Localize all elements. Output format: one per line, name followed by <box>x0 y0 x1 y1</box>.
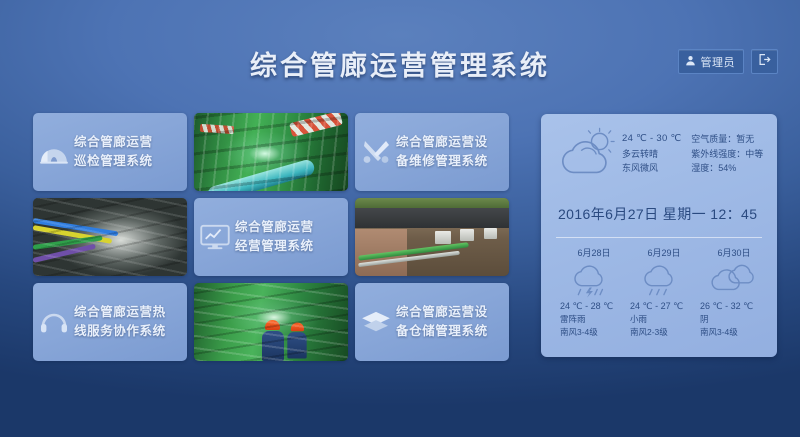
grey-corridor-pipes-photo <box>33 198 187 276</box>
tile-inspection-system[interactable]: 综合管廊运营 巡检管理系统 <box>33 113 187 191</box>
current-weather-details: 24 ℃ - 30 ℃ 多云转晴 东风微风 空气质量：暂无 紫外线强度：中等 湿… <box>622 124 764 176</box>
forecast-day-3: 6月30日 26 ℃ - 32 ℃ 阴 南风3-4级 <box>694 246 764 339</box>
tile-photo-3d-cutaway[interactable] <box>355 198 509 276</box>
tile-label-line2: 经营管理系统 <box>235 237 341 256</box>
page-header: 综合管廊运营管理系统 管理员 <box>0 0 800 96</box>
current-weather-right-column: 空气质量：暂无 紫外线强度：中等 湿度：54% <box>691 132 764 176</box>
forecast-condition: 小雨 <box>630 313 694 326</box>
user-icon <box>685 53 696 71</box>
3d-cutaway-render-photo <box>355 198 509 276</box>
tile-label: 综合管廊运营设 备仓储管理系统 <box>396 303 502 341</box>
dashboard-screen: 综合管廊运营管理系统 管理员 <box>0 0 800 437</box>
forecast-wind: 南风2-3级 <box>630 326 694 339</box>
tile-equipment-maintenance-system[interactable]: 综合管廊运营设 备维修管理系统 <box>355 113 509 191</box>
forecast-day-1: 6月28日 24 ℃ - 28 ℃ 雷阵雨 南风3-4级 <box>554 246 624 339</box>
thunderstorm-icon <box>560 259 624 299</box>
current-wind: 东风微风 <box>622 161 691 176</box>
weather-divider <box>556 237 762 238</box>
tile-equipment-warehouse-system[interactable]: 综合管廊运营设 备仓储管理系统 <box>355 283 509 361</box>
forecast-temperature: 24 ℃ - 28 ℃ <box>560 299 624 313</box>
tile-label: 综合管廊运营 巡检管理系统 <box>74 133 180 171</box>
weather-panel: 24 ℃ - 30 ℃ 多云转晴 东风微风 空气质量：暂无 紫外线强度：中等 湿… <box>541 114 777 357</box>
tile-label-line2: 巡检管理系统 <box>74 152 180 171</box>
tile-label-line1: 综合管廊运营热 <box>74 303 180 322</box>
air-quality: 空气质量：暂无 <box>691 132 764 147</box>
tile-label-line1: 综合管廊运营 <box>74 133 180 152</box>
tile-label-line1: 综合管廊运营设 <box>396 303 502 322</box>
weather-datetime: 2016年6月27日 星期一 12：45 <box>554 192 764 237</box>
headset-icon <box>39 307 69 337</box>
forecast-condition: 阴 <box>700 313 764 326</box>
tile-label: 综合管廊运营设 备维修管理系统 <box>396 133 502 171</box>
tile-label-line1: 综合管廊运营 <box>235 218 341 237</box>
module-tile-grid: 综合管廊运营 巡检管理系统 综合管廊运营设 备维修管理系统 <box>33 113 515 361</box>
tile-label: 综合管廊运营 经营管理系统 <box>235 218 341 256</box>
logout-icon <box>758 53 771 71</box>
current-weather-left-column: 24 ℃ - 30 ℃ 多云转晴 东风微风 <box>622 132 691 176</box>
light-rain-icon <box>630 259 694 299</box>
forecast-date: 6月28日 <box>560 246 624 259</box>
tile-label: 综合管廊运营热 线服务协作系统 <box>74 303 180 341</box>
tile-label-line1: 综合管廊运营设 <box>396 133 502 152</box>
tile-business-management-system[interactable]: 综合管廊运营 经营管理系统 <box>194 198 348 276</box>
tile-photo-grey-corridor[interactable] <box>33 198 187 276</box>
current-weather: 24 ℃ - 30 ℃ 多云转晴 东风微风 空气质量：暂无 紫外线强度：中等 湿… <box>554 124 764 192</box>
forecast-wind: 南风3-4级 <box>700 326 764 339</box>
tile-label-line2: 备仓储管理系统 <box>396 322 502 341</box>
forecast-day-2: 6月29日 24 ℃ - 27 ℃ 小雨 南风2-3级 <box>624 246 694 339</box>
wrench-screwdriver-icon <box>361 137 391 167</box>
forecast-date: 6月29日 <box>630 246 694 259</box>
overcast-icon <box>700 259 764 299</box>
forecast-temperature: 24 ℃ - 27 ℃ <box>630 299 694 313</box>
current-temperature: 24 ℃ - 30 ℃ <box>622 132 691 147</box>
tile-hotline-service-system[interactable]: 综合管廊运营热 线服务协作系统 <box>33 283 187 361</box>
workers-in-tunnel-photo <box>194 283 348 361</box>
forecast-wind: 南风3-4级 <box>560 326 624 339</box>
green-pipe-tunnel-photo <box>194 113 348 191</box>
forecast-temperature: 26 ℃ - 32 ℃ <box>700 299 764 313</box>
tile-photo-green-pipe-tunnel[interactable] <box>194 113 348 191</box>
current-condition: 多云转晴 <box>622 147 691 162</box>
forecast-date: 6月30日 <box>700 246 764 259</box>
monitor-chart-icon <box>200 222 230 252</box>
header-user-area: 管理员 <box>678 49 779 74</box>
tile-photo-workers-in-tunnel[interactable] <box>194 283 348 361</box>
logout-button[interactable] <box>751 49 778 74</box>
tunnel-arch-icon <box>39 137 69 167</box>
tile-label-line2: 线服务协作系统 <box>74 322 180 341</box>
uv-index: 紫外线强度：中等 <box>691 147 764 162</box>
stacked-layers-icon <box>361 307 391 337</box>
forecast-condition: 雷阵雨 <box>560 313 624 326</box>
user-name-label: 管理员 <box>701 54 736 70</box>
user-badge[interactable]: 管理员 <box>678 49 745 74</box>
humidity: 湿度：54% <box>691 161 764 176</box>
forecast-row: 6月28日 24 ℃ - 28 ℃ 雷阵雨 南风3-4级 <box>554 246 764 339</box>
sun-behind-cloud-icon <box>554 126 622 186</box>
tile-label-line2: 备维修管理系统 <box>396 152 502 171</box>
